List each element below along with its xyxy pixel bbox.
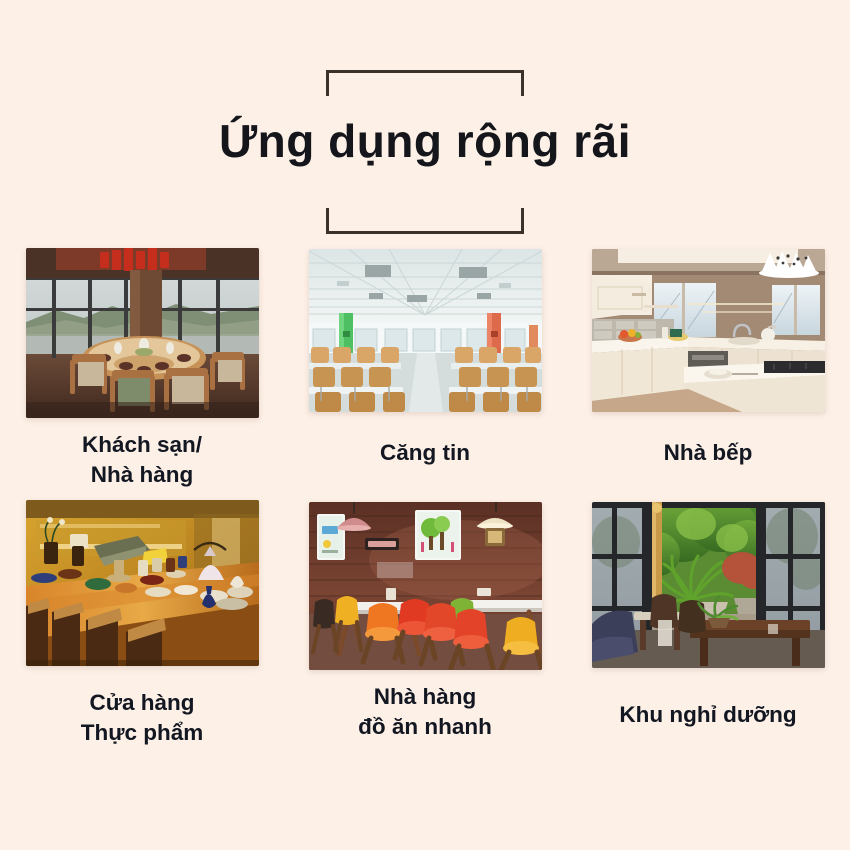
thumbnail-hotel-restaurant[interactable] [26,248,259,418]
thumbnail-canteen[interactable] [309,249,542,412]
canteen-illustration [309,249,542,412]
thumbnail-resort[interactable] [592,502,825,668]
caption-canteen: Căng tin [380,438,470,468]
grid-item-resort[interactable]: Khu nghỉ dưỡng [567,500,850,730]
page-title: Ứng dụng rộng rãi [0,116,850,167]
caption-hotel-restaurant: Khách sạn/ Nhà hàng [82,430,202,490]
application-grid: Khách sạn/ Nhà hàng [0,248,850,750]
grid-item-canteen[interactable]: Căng tin [284,248,567,468]
food-store-illustration [26,500,259,666]
caption-fast-food: Nhà hàng đồ ăn nhanh [358,682,492,742]
fast-food-illustration [309,502,542,670]
bracket-bottom-decoration [326,208,524,234]
thumbnail-kitchen[interactable] [592,249,825,412]
hotel-restaurant-illustration [26,248,259,418]
grid-item-food-store[interactable]: Cửa hàng Thực phẩm [1,500,284,748]
header: Ứng dụng rộng rãi [0,64,850,234]
bracket-top-decoration [326,70,524,96]
application-grid-row: Khách sạn/ Nhà hàng [0,248,850,500]
resort-illustration [592,502,825,668]
grid-item-hotel-restaurant[interactable]: Khách sạn/ Nhà hàng [1,248,284,490]
kitchen-illustration [592,249,825,412]
caption-food-store: Cửa hàng Thực phẩm [81,688,204,748]
caption-kitchen: Nhà bếp [664,438,753,468]
thumbnail-food-store[interactable] [26,500,259,666]
caption-resort: Khu nghỉ dưỡng [619,700,796,730]
grid-item-fast-food[interactable]: Nhà hàng đồ ăn nhanh [284,500,567,742]
thumbnail-fast-food[interactable] [309,502,542,670]
grid-item-kitchen[interactable]: Nhà bếp [567,248,850,468]
application-grid-row: Cửa hàng Thực phẩm [0,500,850,750]
